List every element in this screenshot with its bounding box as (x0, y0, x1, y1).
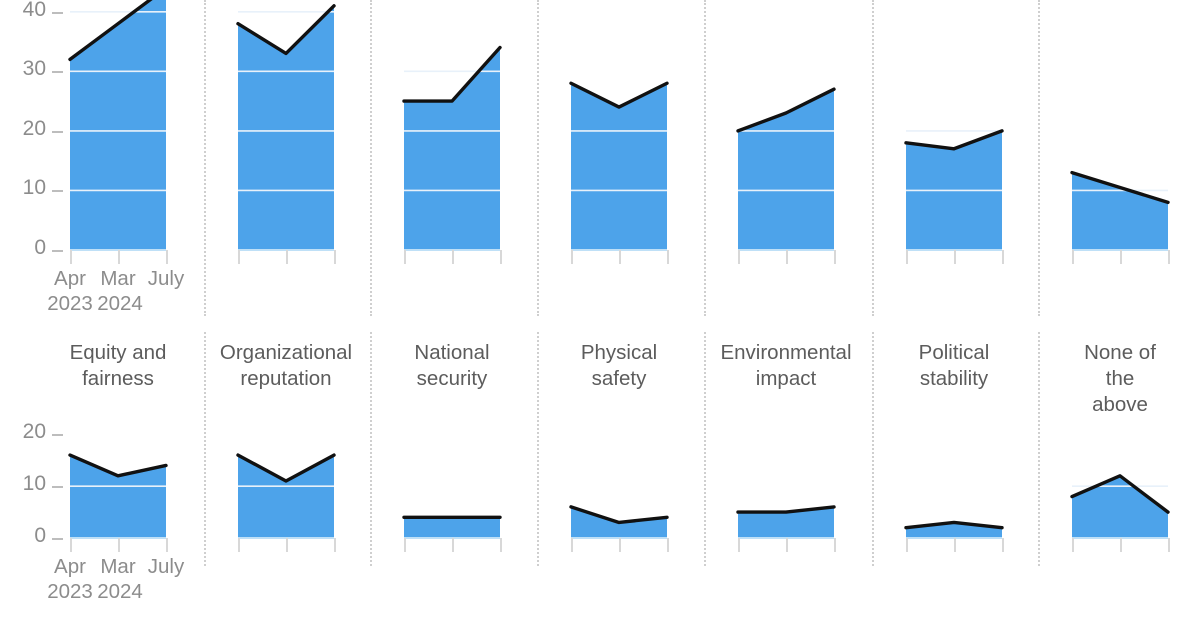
series-line (906, 522, 1002, 527)
x-axis-tick-mark (906, 538, 908, 552)
area-fill (404, 517, 500, 538)
x-axis-tick-mark (452, 538, 454, 552)
x-axis-tick-label-month: July (148, 555, 184, 579)
x-axis-tick-mark (404, 538, 406, 552)
x-axis-tick-mark (571, 538, 573, 552)
y-axis-tick-mark (52, 486, 63, 488)
x-axis-tick-mark (738, 538, 740, 552)
series-line (1072, 476, 1168, 512)
y-axis-tick-label: 0 (0, 524, 46, 548)
area-fill (906, 522, 1002, 538)
chart-canvas: 010203040Apr2023Mar2024July Equity and f… (0, 0, 1200, 630)
x-axis-tick-label-month: Apr (54, 555, 86, 579)
area-fill (1072, 476, 1168, 538)
y-axis-tick-label: 10 (0, 472, 46, 496)
x-axis-tick-mark (166, 538, 168, 552)
x-axis-tick-mark (1002, 538, 1004, 552)
area-fill (70, 455, 166, 538)
chart-row-bottom: 01020Apr2023Mar2024July (0, 0, 1200, 630)
area-fill (238, 455, 334, 538)
x-axis-tick-mark (1168, 538, 1170, 552)
x-axis-tick-mark (500, 538, 502, 552)
x-axis-tick-mark (954, 538, 956, 552)
x-axis-tick-label-year: 2023 (47, 580, 93, 604)
x-axis-tick-mark (667, 538, 669, 552)
area-fill (571, 507, 667, 538)
series-line (238, 455, 334, 481)
x-axis-tick-mark (238, 538, 240, 552)
series-line (738, 507, 834, 512)
x-axis-tick-mark (1120, 538, 1122, 552)
x-axis-tick-mark (286, 538, 288, 552)
series-line (70, 455, 166, 476)
x-axis-tick-mark (334, 538, 336, 552)
x-axis-tick-mark (118, 538, 120, 552)
x-axis-tick-mark (619, 538, 621, 552)
x-axis-tick-mark (786, 538, 788, 552)
x-axis-tick-mark (834, 538, 836, 552)
x-axis-tick-mark (1072, 538, 1074, 552)
x-axis-tick-label-month: Mar (100, 555, 135, 579)
y-axis-tick-label: 20 (0, 420, 46, 444)
series-line (571, 507, 667, 523)
x-axis-tick-label-year: 2024 (97, 580, 143, 604)
area-fill (738, 507, 834, 538)
y-axis-tick-mark (52, 434, 63, 436)
x-axis-tick-mark (70, 538, 72, 552)
y-axis-tick-mark (52, 538, 63, 540)
